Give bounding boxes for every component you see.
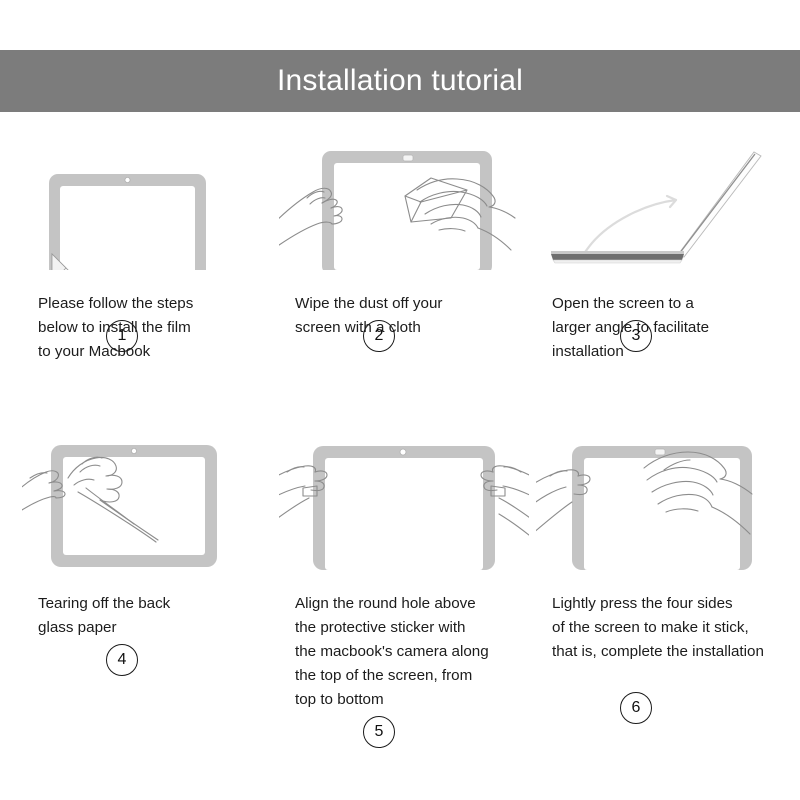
step-number-badge: 1 <box>106 320 138 352</box>
step-card-2: Wipe the dust off your screen with a clo… <box>273 130 531 340</box>
step-badge-wrap-4: 4 <box>16 644 274 676</box>
step-badge-wrap-3: 3 <box>530 320 788 352</box>
caption-line: the macbook's camera along <box>295 640 523 664</box>
page-title: Installation tutorial <box>277 66 523 96</box>
step-badge-wrap-1: 1 <box>16 320 274 352</box>
caption-line: the top of the screen, from <box>295 664 523 688</box>
caption-line: that is, complete the installation <box>552 640 780 664</box>
screen-with-peeling-film-corner-icon <box>22 130 272 270</box>
caption-line: glass paper <box>38 616 266 640</box>
step-badge-wrap-6: 6 <box>530 692 788 724</box>
tutorial-page: Installation tutorial Please follow <box>0 0 800 800</box>
step-caption-4: Tearing off the back glass paper <box>38 592 266 640</box>
step-caption-6: Lightly press the four sides of the scre… <box>552 592 780 664</box>
caption-line: Please follow the steps <box>38 292 266 316</box>
hand-tearing-backing-paper-icon <box>22 430 272 570</box>
steps-grid: Please follow the steps below to install… <box>0 130 800 770</box>
step-card-1: Please follow the steps below to install… <box>16 130 274 364</box>
hand-pressing-screen-edges-icon <box>536 430 786 570</box>
step-card-5: Align the round hole above the protectiv… <box>273 430 531 712</box>
step-badge-wrap-5: 5 <box>273 716 531 748</box>
caption-line: Tearing off the back <box>38 592 266 616</box>
caption-line: Wipe the dust off your <box>295 292 523 316</box>
step-number-badge: 5 <box>363 716 395 748</box>
step-number-badge: 4 <box>106 644 138 676</box>
hand-wiping-screen-with-cloth-icon <box>279 130 529 270</box>
step-number-badge: 3 <box>620 320 652 352</box>
two-hands-aligning-film-icon <box>279 430 529 570</box>
step-number-badge: 6 <box>620 692 652 724</box>
caption-line: Align the round hole above <box>295 592 523 616</box>
step-badge-wrap-2: 2 <box>273 320 531 352</box>
caption-line: the protective sticker with <box>295 616 523 640</box>
step-card-6: Lightly press the four sides of the scre… <box>530 430 788 664</box>
caption-line: of the screen to make it stick, <box>552 616 780 640</box>
step-card-4: Tearing off the back glass paper 4 <box>16 430 274 640</box>
caption-line: Lightly press the four sides <box>552 592 780 616</box>
header-band: Installation tutorial <box>0 50 800 112</box>
caption-line: top to bottom <box>295 688 523 712</box>
step-number-badge: 2 <box>363 320 395 352</box>
step-card-3: Open the screen to a larger angle to fac… <box>530 130 788 364</box>
caption-line: Open the screen to a <box>552 292 780 316</box>
laptop-side-view-opening-lid-icon <box>536 130 786 270</box>
step-caption-5: Align the round hole above the protectiv… <box>295 592 523 712</box>
